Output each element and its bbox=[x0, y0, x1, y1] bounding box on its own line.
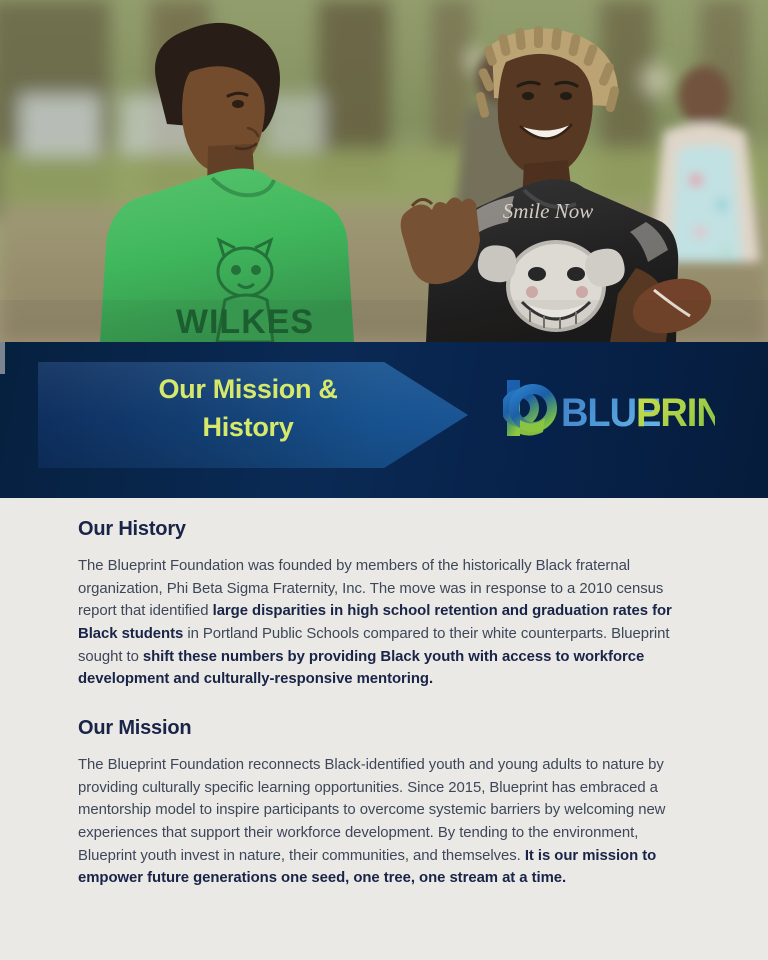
section-our-history: Our History The Blueprint Foundation was… bbox=[78, 518, 690, 691]
banner-title-line-2: History bbox=[58, 408, 438, 446]
banner-title: Our Mission & History bbox=[58, 370, 438, 447]
our-history-heading: Our History bbox=[78, 518, 690, 541]
section-our-mission: Our Mission The Blueprint Foundation rec… bbox=[78, 717, 690, 890]
hero-photo: WILKES bbox=[0, 0, 768, 342]
blueprint-logo[interactable]: BLUE PRINT bbox=[503, 376, 715, 440]
emphasis-text: shift these numbers by providing Black y… bbox=[78, 649, 644, 688]
our-mission-paragraph: The Blueprint Foundation reconnects Blac… bbox=[78, 754, 690, 890]
page-root: WILKES bbox=[0, 0, 768, 960]
content-area: Our History The Blueprint Foundation was… bbox=[0, 498, 768, 890]
our-history-paragraph: The Blueprint Foundation was founded by … bbox=[78, 555, 690, 691]
logo-mark-shape bbox=[503, 380, 552, 436]
left-edge-strip bbox=[0, 342, 5, 374]
banner-title-line-1: Our Mission & bbox=[58, 370, 438, 408]
our-mission-heading: Our Mission bbox=[78, 717, 690, 740]
logo-word-print: PRINT bbox=[636, 391, 715, 435]
